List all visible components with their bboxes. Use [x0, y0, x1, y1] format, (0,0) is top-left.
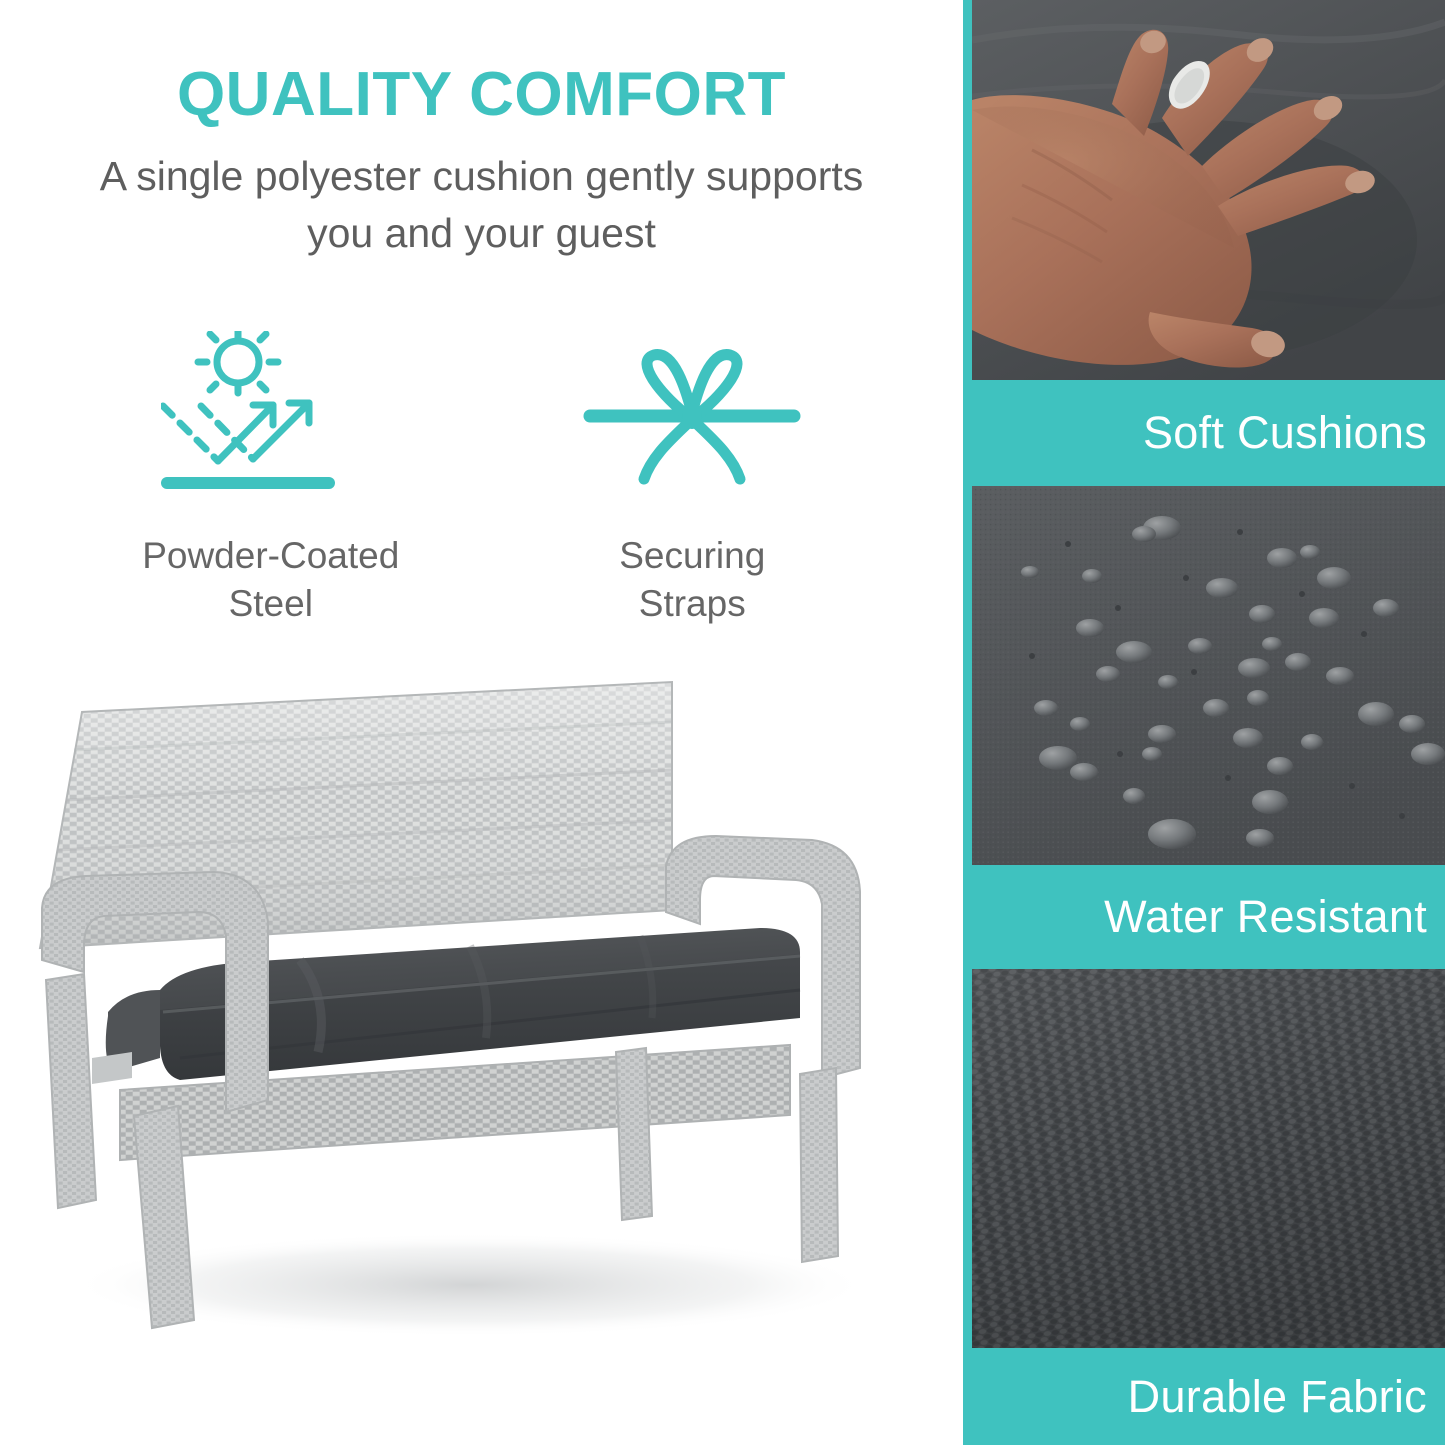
- page-subtitle: A single polyester cushion gently suppor…: [70, 148, 893, 261]
- detail-label-durable-fabric: Durable Fabric: [1128, 1371, 1445, 1423]
- detail-band-soft-cushions: Soft Cushions: [963, 380, 1445, 486]
- detail-label-soft-cushions: Soft Cushions: [1143, 407, 1445, 459]
- feature-securing-straps: Securing Straps: [507, 330, 877, 628]
- feature-label-line2: Steel: [229, 583, 313, 624]
- detail-label-water-resistant: Water Resistant: [1104, 891, 1445, 943]
- water-droplets-beading-photo: [972, 486, 1445, 865]
- left-content-column: QUALITY COMFORT A single polyester cushi…: [0, 0, 963, 1445]
- feature-label-securing-straps: Securing Straps: [619, 532, 765, 628]
- detail-panel-soft-cushions: [972, 0, 1445, 380]
- uv-sun-reflect-icon: [161, 330, 381, 510]
- page-title: QUALITY COMFORT: [0, 62, 963, 127]
- feature-label-line1: Securing: [619, 535, 765, 576]
- hand-pressing-into-gray-cushion-photo: [972, 0, 1445, 380]
- feature-label-line1: Powder-Coated: [142, 535, 399, 576]
- detail-panel-durable-fabric: [972, 969, 1445, 1348]
- right-detail-column: Soft Cushions: [963, 0, 1445, 1445]
- detail-band-water-resistant: Water Resistant: [963, 865, 1445, 969]
- feature-label-line2: Straps: [639, 583, 746, 624]
- feature-label-powder-coated-steel: Powder-Coated Steel: [142, 532, 399, 628]
- dark-gray-woven-fabric-photo: [972, 969, 1445, 1348]
- product-feature-infographic: QUALITY COMFORT A single polyester cushi…: [0, 0, 1445, 1445]
- detail-band-durable-fabric: Durable Fabric: [963, 1348, 1445, 1445]
- ribbon-bow-strap-icon: [582, 330, 802, 510]
- product-photo-bench: [0, 660, 963, 1400]
- feature-powder-coated-steel: Powder-Coated Steel: [86, 330, 456, 628]
- detail-panel-water-resistant: [972, 486, 1445, 865]
- feature-highlights-row: Powder-Coated Steel: [60, 330, 903, 628]
